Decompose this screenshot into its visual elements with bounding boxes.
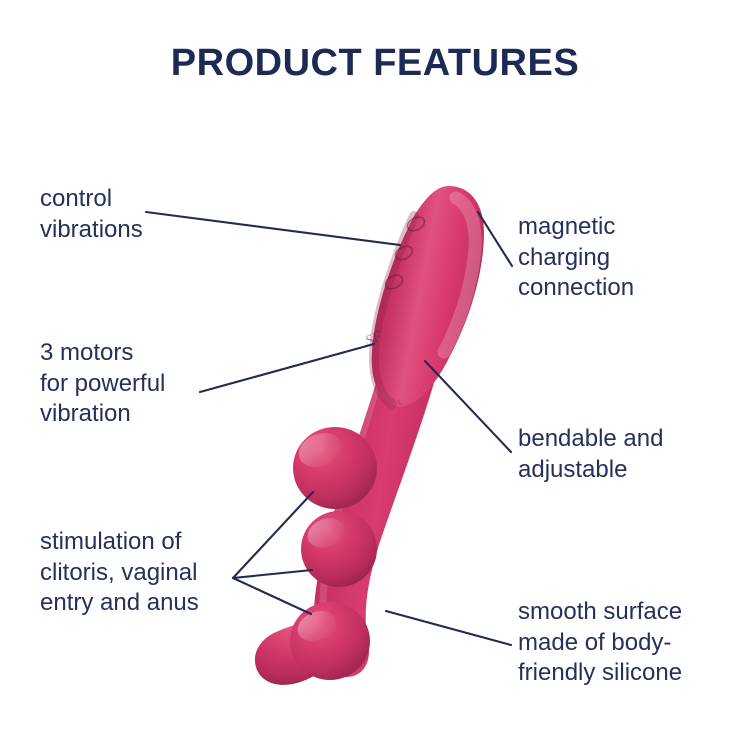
callout-control-vibrations: control vibrations: [40, 184, 143, 245]
callout-smooth-surface: smooth surface made of body- friendly si…: [518, 597, 682, 689]
callout-magnetic-charging: magnetic charging connection: [518, 212, 634, 304]
callout-bendable-adjustable: bendable and adjustable: [518, 424, 663, 485]
callout-stimulation-areas: stimulation of clitoris, vaginal entry a…: [40, 527, 199, 619]
callout-three-motors: 3 motors for powerful vibration: [40, 338, 165, 430]
product-handle: [372, 186, 484, 407]
product-features-infographic: PRODUCT FEATURES: [0, 0, 750, 750]
stimulation-spheres: [290, 427, 377, 680]
